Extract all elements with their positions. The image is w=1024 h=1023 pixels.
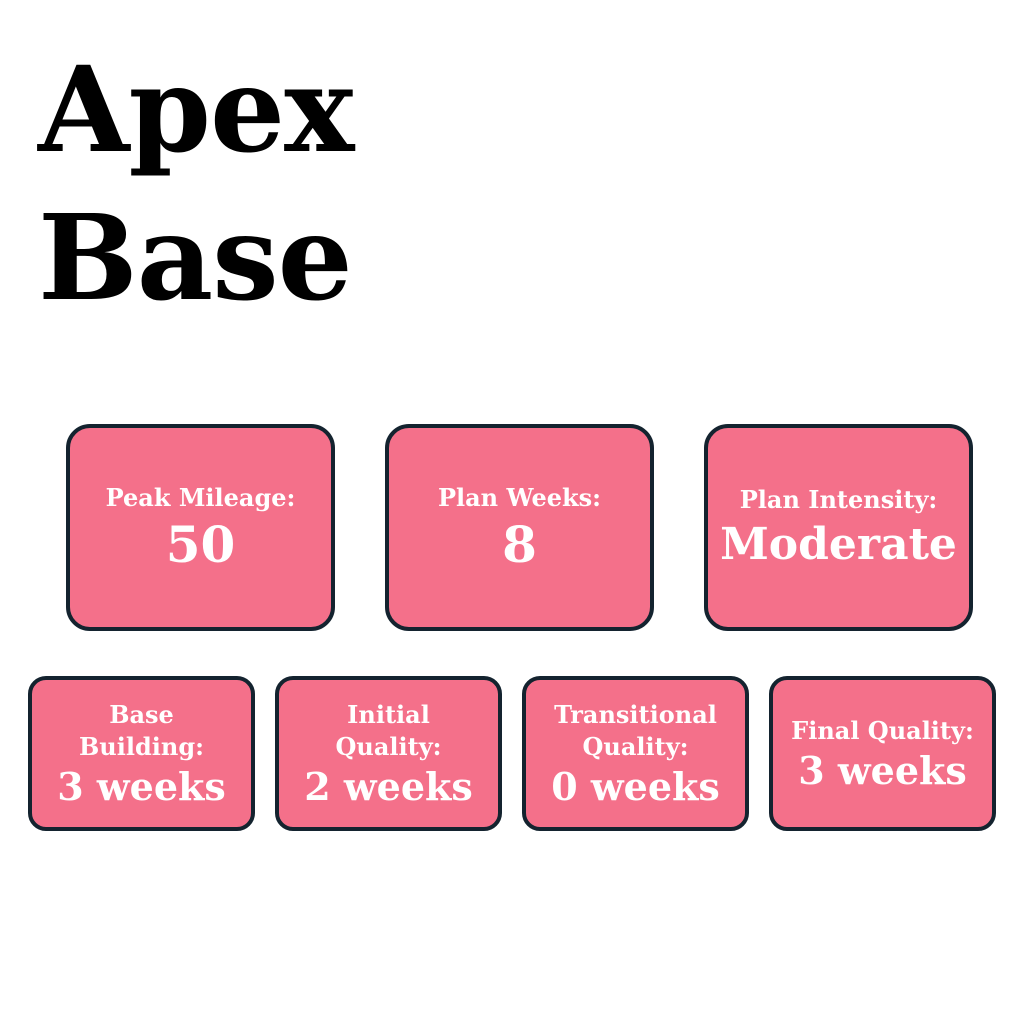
stat-card-plan-weeks: Plan Weeks: 8	[385, 424, 654, 631]
plan-summary-page: Apex Base Peak Mileage: 50 Plan Weeks: 8…	[0, 0, 1024, 1023]
stat-card-value: 50	[166, 517, 236, 573]
page-title-line-1: Apex	[38, 36, 738, 184]
phase-card-value: 3 weeks	[57, 765, 225, 809]
stat-card-label: Plan Weeks:	[438, 483, 601, 513]
page-title-line-2: Base	[38, 184, 738, 332]
page-title: Apex Base	[38, 36, 738, 332]
stat-card-value: 8	[502, 517, 537, 573]
phase-card-value: 3 weeks	[798, 749, 966, 793]
phase-card-label: Initial Quality:	[294, 699, 484, 763]
phase-card-initial-quality: Initial Quality: 2 weeks	[275, 676, 502, 831]
phase-card-value: 2 weeks	[304, 765, 472, 809]
phase-stats-row: Base Building: 3 weeks Initial Quality: …	[28, 676, 996, 831]
phase-card-value: 0 weeks	[551, 765, 719, 809]
phase-card-label: Transitional Quality:	[541, 699, 731, 763]
stat-card-plan-intensity: Plan Intensity: Moderate	[704, 424, 973, 631]
stat-card-label: Peak Mileage:	[106, 483, 296, 513]
phase-card-base-building: Base Building: 3 weeks	[28, 676, 255, 831]
phase-card-label: Final Quality:	[791, 715, 974, 747]
stat-card-peak-mileage: Peak Mileage: 50	[66, 424, 335, 631]
phase-card-label: Base Building:	[47, 699, 237, 763]
stat-card-label: Plan Intensity:	[740, 485, 938, 515]
stat-card-value: Moderate	[720, 519, 957, 571]
primary-stats-row: Peak Mileage: 50 Plan Weeks: 8 Plan Inte…	[66, 424, 974, 631]
phase-card-final-quality: Final Quality: 3 weeks	[769, 676, 996, 831]
phase-card-transitional-quality: Transitional Quality: 0 weeks	[522, 676, 749, 831]
